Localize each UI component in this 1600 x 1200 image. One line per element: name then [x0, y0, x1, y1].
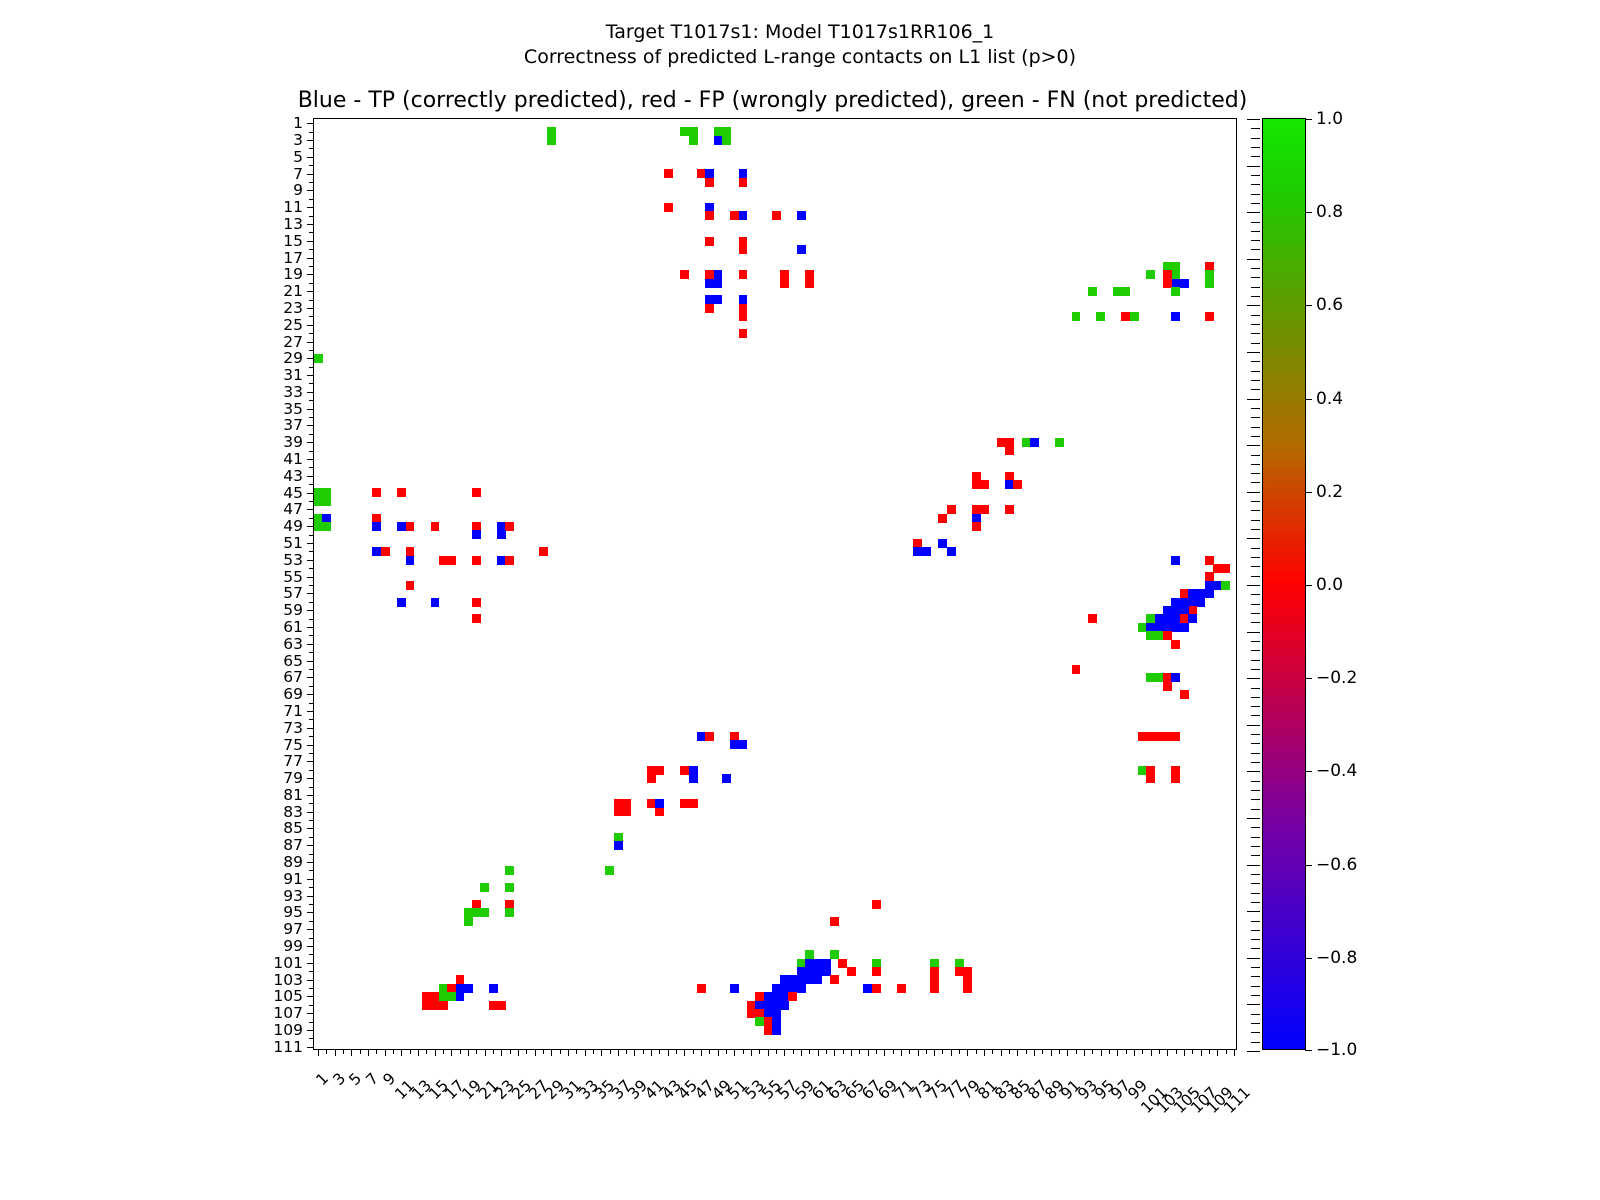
x-axis-tick — [984, 1049, 985, 1056]
colorbar-minor-tick — [1251, 762, 1260, 763]
colorbar-minor-tick — [1251, 557, 1260, 558]
y-axis-tick-label: 101 — [273, 954, 303, 972]
colorbar-minor-tick — [1247, 1051, 1260, 1052]
y-axis-minor-tick — [309, 887, 314, 888]
colorbar-minor-tick — [1251, 529, 1260, 530]
y-axis-minor-tick — [309, 451, 314, 452]
y-axis-minor-tick — [309, 350, 314, 351]
x-axis-minor-tick — [560, 1049, 561, 1054]
y-axis-tick — [307, 1013, 314, 1014]
contact-cell — [1005, 446, 1014, 455]
x-axis-minor-tick — [859, 1049, 860, 1054]
y-axis-tick-label: 41 — [283, 450, 303, 468]
y-axis-tick-label: 49 — [283, 517, 303, 535]
y-axis-minor-tick — [309, 971, 314, 972]
x-axis-minor-tick — [826, 1049, 827, 1054]
colorbar-tick — [1305, 1050, 1312, 1051]
y-axis-minor-tick — [309, 551, 314, 552]
colorbar-minor-tick — [1251, 594, 1260, 595]
x-axis-tick — [851, 1049, 852, 1056]
colorbar-minor-tick — [1251, 976, 1260, 977]
colorbar-minor-tick — [1251, 613, 1260, 614]
colorbar-minor-tick — [1251, 194, 1260, 195]
colorbar-minor-tick — [1251, 799, 1260, 800]
contact-cell — [739, 312, 748, 321]
contact-cell — [447, 556, 456, 565]
x-axis-minor-tick — [926, 1049, 927, 1054]
y-axis-tick-label: 83 — [283, 803, 303, 821]
y-axis-tick-label: 47 — [283, 500, 303, 518]
x-axis-minor-tick — [510, 1049, 511, 1054]
x-axis-minor-tick — [1026, 1049, 1027, 1054]
colorbar-tick-label: 0.4 — [1316, 389, 1343, 409]
colorbar-minor-tick — [1251, 604, 1260, 605]
x-axis-minor-tick — [343, 1049, 344, 1054]
x-axis-tick — [451, 1049, 452, 1056]
x-axis-minor-tick — [1092, 1049, 1093, 1054]
x-axis-tick — [1201, 1049, 1202, 1056]
y-axis-tick-label: 81 — [283, 786, 303, 804]
y-axis-tick-label: 97 — [283, 920, 303, 938]
y-axis-minor-tick — [309, 988, 314, 989]
x-axis-tick — [335, 1049, 336, 1056]
contact-cell — [1171, 673, 1180, 682]
x-axis-tick — [501, 1049, 502, 1056]
contact-cell — [1088, 614, 1097, 623]
y-axis-minor-tick — [309, 602, 314, 603]
x-axis-minor-tick — [809, 1049, 810, 1054]
colorbar-minor-tick — [1251, 948, 1260, 949]
y-axis-tick-label: 51 — [283, 534, 303, 552]
y-axis-tick — [307, 610, 314, 611]
x-axis-minor-tick — [610, 1049, 611, 1054]
contact-cell — [431, 522, 440, 531]
y-axis-tick — [307, 694, 314, 695]
x-axis-tick — [684, 1049, 685, 1056]
contact-map-plot: 1357911131517192123252729313335373941434… — [313, 118, 1237, 1050]
contact-cell — [788, 992, 797, 1001]
colorbar-minor-tick — [1251, 417, 1260, 418]
contact-cell — [406, 581, 415, 590]
y-axis-tick-label: 21 — [283, 282, 303, 300]
colorbar-minor-tick — [1251, 464, 1260, 465]
contact-cell — [497, 530, 506, 539]
x-axis-tick — [468, 1049, 469, 1056]
contact-cell — [705, 237, 714, 246]
contact-cell — [972, 522, 981, 531]
colorbar-minor-tick — [1251, 361, 1260, 362]
y-axis-tick-label: 31 — [283, 366, 303, 384]
contact-cell — [1171, 556, 1180, 565]
colorbar-minor-tick — [1251, 501, 1260, 502]
x-axis-minor-tick — [576, 1049, 577, 1054]
y-axis-tick — [307, 258, 314, 259]
colorbar-tick — [1305, 212, 1312, 213]
x-axis-minor-tick — [1076, 1049, 1077, 1054]
colorbar-minor-tick — [1251, 147, 1260, 148]
y-axis-tick-label: 33 — [283, 383, 303, 401]
colorbar-minor-tick — [1251, 203, 1260, 204]
contact-cell — [1221, 581, 1230, 590]
contact-cell — [1171, 732, 1180, 741]
x-axis-minor-tick — [676, 1049, 677, 1054]
x-axis-tick — [385, 1049, 386, 1056]
y-axis-tick — [307, 291, 314, 292]
colorbar-minor-tick — [1251, 427, 1260, 428]
x-axis-minor-tick — [476, 1049, 477, 1054]
y-axis-minor-tick — [309, 165, 314, 166]
contact-cell — [664, 169, 673, 178]
y-axis-tick — [307, 140, 314, 141]
x-axis-minor-tick — [743, 1049, 744, 1054]
x-axis-tick — [834, 1049, 835, 1056]
colorbar-minor-tick — [1251, 706, 1260, 707]
y-axis-minor-tick — [309, 182, 314, 183]
x-axis-minor-tick — [643, 1049, 644, 1054]
colorbar-minor-tick — [1247, 259, 1260, 260]
contact-cell — [1146, 270, 1155, 279]
y-axis-tick — [307, 711, 314, 712]
contact-cell — [1205, 312, 1214, 321]
y-axis-tick — [307, 274, 314, 275]
y-axis-tick — [307, 157, 314, 158]
x-axis-tick — [818, 1049, 819, 1056]
contact-cell — [372, 522, 381, 531]
x-axis-minor-tick — [1192, 1049, 1193, 1054]
x-axis-tick — [1184, 1049, 1185, 1056]
contact-cell — [439, 1001, 448, 1010]
colorbar-minor-tick — [1247, 678, 1260, 679]
y-axis-tick — [307, 526, 314, 527]
y-axis-tick-label: 87 — [283, 836, 303, 854]
colorbar-minor-tick — [1251, 138, 1260, 139]
y-axis-minor-tick — [309, 518, 314, 519]
title-line-1: Target T1017s1: Model T1017s1RR106_1 — [0, 20, 1600, 45]
contact-cell — [689, 774, 698, 783]
colorbar-tick-label: −0.4 — [1316, 761, 1357, 781]
figure-root: Target T1017s1: Model T1017s1RR106_1 Cor… — [0, 0, 1600, 1200]
y-axis-minor-tick — [309, 300, 314, 301]
y-axis-minor-tick — [309, 736, 314, 737]
contact-cell — [547, 136, 556, 145]
x-axis-minor-tick — [410, 1049, 411, 1054]
contact-cell — [1072, 312, 1081, 321]
x-axis-minor-tick — [376, 1049, 377, 1054]
colorbar-minor-tick — [1251, 128, 1260, 129]
y-axis-tick-label: 111 — [273, 1038, 303, 1056]
x-axis-tick — [1067, 1049, 1068, 1056]
contact-cell — [705, 732, 714, 741]
y-axis-tick-label: 45 — [283, 484, 303, 502]
colorbar-tick — [1305, 771, 1312, 772]
x-axis-minor-tick — [1126, 1049, 1127, 1054]
contact-cell — [697, 984, 706, 993]
colorbar-tick — [1305, 865, 1312, 866]
x-axis-tick — [601, 1049, 602, 1056]
y-axis-minor-tick — [309, 652, 314, 653]
colorbar-minor-tick — [1247, 352, 1260, 353]
y-axis-tick — [307, 929, 314, 930]
contact-cell — [947, 547, 956, 556]
y-axis-tick-label: 57 — [283, 584, 303, 602]
y-axis-minor-tick — [309, 283, 314, 284]
contact-cell — [372, 488, 381, 497]
contact-cell — [505, 908, 514, 917]
colorbar-minor-tick — [1251, 893, 1260, 894]
contact-cell — [655, 766, 664, 775]
contact-cell — [456, 992, 465, 1001]
y-axis-minor-tick — [309, 921, 314, 922]
y-axis-tick — [307, 241, 314, 242]
x-axis-tick — [884, 1049, 885, 1056]
colorbar-minor-tick — [1251, 231, 1260, 232]
y-axis-minor-tick — [309, 837, 314, 838]
x-axis-minor-tick — [976, 1049, 977, 1054]
contact-cell — [322, 497, 331, 506]
y-axis-tick — [307, 493, 314, 494]
y-axis-tick-label: 1 — [293, 114, 303, 132]
contact-cell — [938, 514, 947, 523]
x-axis-minor-tick — [793, 1049, 794, 1054]
x-axis-minor-tick — [426, 1049, 427, 1054]
contact-cell — [464, 984, 473, 993]
y-axis-tick — [307, 392, 314, 393]
contact-cell — [472, 556, 481, 565]
x-axis-tick — [1034, 1049, 1035, 1056]
colorbar-minor-tick — [1251, 371, 1260, 372]
y-axis-tick — [307, 409, 314, 410]
contact-cell — [505, 883, 514, 892]
y-axis-tick — [307, 476, 314, 477]
x-axis-minor-tick — [1226, 1049, 1227, 1054]
y-axis-minor-tick — [309, 703, 314, 704]
x-axis-tick — [1001, 1049, 1002, 1056]
contact-cell — [772, 211, 781, 220]
y-axis-tick-label: 59 — [283, 601, 303, 619]
contact-cell — [464, 917, 473, 926]
y-axis-tick — [307, 577, 314, 578]
y-axis-tick — [307, 795, 314, 796]
contact-cells-layer — [314, 119, 1236, 1049]
y-axis-tick-label: 99 — [283, 937, 303, 955]
y-axis-minor-tick — [309, 669, 314, 670]
contact-cell — [739, 270, 748, 279]
colorbar-minor-tick — [1251, 520, 1260, 521]
y-axis-minor-tick — [309, 249, 314, 250]
x-axis-minor-tick — [709, 1049, 710, 1054]
colorbar: 1.00.80.60.40.20.0−0.2−0.4−0.6−0.8−1.0 — [1262, 118, 1306, 1050]
y-axis-minor-tick — [309, 904, 314, 905]
colorbar-minor-tick — [1251, 240, 1260, 241]
colorbar-minor-tick — [1251, 436, 1260, 437]
y-axis-minor-tick — [309, 434, 314, 435]
contact-cell — [830, 975, 839, 984]
y-axis-tick-label: 77 — [283, 752, 303, 770]
x-axis-tick — [401, 1049, 402, 1056]
contact-cell — [472, 614, 481, 623]
colorbar-minor-tick — [1247, 492, 1260, 493]
colorbar-minor-tick — [1251, 455, 1260, 456]
x-axis-minor-tick — [726, 1049, 727, 1054]
y-axis-tick — [307, 862, 314, 863]
y-axis-tick — [307, 745, 314, 746]
y-axis-tick — [307, 996, 314, 997]
y-axis-minor-tick — [309, 199, 314, 200]
contact-cell — [705, 178, 714, 187]
y-axis-tick — [307, 459, 314, 460]
colorbar-minor-tick — [1251, 473, 1260, 474]
colorbar-minor-tick — [1251, 296, 1260, 297]
y-axis-tick-label: 7 — [293, 165, 303, 183]
contact-cell — [1205, 279, 1214, 288]
y-axis-minor-tick — [309, 803, 314, 804]
colorbar-minor-tick — [1247, 818, 1260, 819]
colorbar-minor-tick — [1251, 930, 1260, 931]
y-axis-tick-label: 23 — [283, 299, 303, 317]
y-axis-minor-tick — [309, 753, 314, 754]
y-axis-tick — [307, 963, 314, 964]
x-axis-tick — [318, 1049, 319, 1056]
colorbar-minor-tick — [1251, 1032, 1260, 1033]
x-axis-tick — [518, 1049, 519, 1056]
colorbar-minor-tick — [1251, 408, 1260, 409]
y-axis-tick-label: 79 — [283, 769, 303, 787]
x-axis-minor-tick — [493, 1049, 494, 1054]
figure-title: Target T1017s1: Model T1017s1RR106_1 Cor… — [0, 20, 1600, 70]
contact-cell — [847, 967, 856, 976]
x-axis-tick — [768, 1049, 769, 1056]
x-axis-minor-tick — [1176, 1049, 1177, 1054]
contact-cell — [1171, 287, 1180, 296]
colorbar-minor-tick — [1251, 967, 1260, 968]
contact-cell — [614, 841, 623, 850]
colorbar-minor-tick — [1251, 883, 1260, 884]
x-axis-minor-tick — [1159, 1049, 1160, 1054]
contact-cell — [480, 883, 489, 892]
x-axis-tick — [801, 1049, 802, 1056]
contact-cell — [489, 984, 498, 993]
x-axis-minor-tick — [893, 1049, 894, 1054]
x-axis-minor-tick — [1009, 1049, 1010, 1054]
colorbar-minor-tick — [1251, 734, 1260, 735]
y-axis-tick-label: 43 — [283, 467, 303, 485]
y-axis-minor-tick — [309, 770, 314, 771]
x-axis-tick — [634, 1049, 635, 1056]
contact-cell — [705, 211, 714, 220]
y-axis-minor-tick — [309, 148, 314, 149]
contact-cell — [722, 136, 731, 145]
x-axis-minor-tick — [1142, 1049, 1143, 1054]
contact-cell — [930, 984, 939, 993]
y-axis-minor-tick — [309, 854, 314, 855]
colorbar-minor-tick — [1251, 389, 1260, 390]
colorbar-tick — [1305, 678, 1312, 679]
y-axis-minor-tick — [309, 619, 314, 620]
x-axis-tick — [351, 1049, 352, 1056]
x-axis-tick — [485, 1049, 486, 1056]
y-axis-minor-tick — [309, 132, 314, 133]
colorbar-minor-tick — [1251, 753, 1260, 754]
y-axis-tick — [307, 442, 314, 443]
contact-cell — [1171, 640, 1180, 649]
y-axis-tick-label: 71 — [283, 702, 303, 720]
y-axis-tick-label: 73 — [283, 719, 303, 737]
y-axis-tick — [307, 174, 314, 175]
y-axis-tick — [307, 207, 314, 208]
contact-cell — [647, 774, 656, 783]
y-axis-tick — [307, 308, 314, 309]
contact-cell — [1005, 505, 1014, 514]
colorbar-tick — [1305, 305, 1312, 306]
colorbar-minor-tick — [1251, 1023, 1260, 1024]
x-axis-tick — [551, 1049, 552, 1056]
colorbar-tick-label: 0.0 — [1316, 575, 1343, 595]
x-axis-minor-tick — [393, 1049, 394, 1054]
y-axis-tick-label: 37 — [283, 416, 303, 434]
contact-cell — [1171, 312, 1180, 321]
y-axis-minor-tick — [309, 333, 314, 334]
contact-cell — [780, 279, 789, 288]
y-axis-minor-tick — [309, 686, 314, 687]
x-axis-tick — [1134, 1049, 1135, 1056]
colorbar-minor-tick — [1251, 482, 1260, 483]
contact-cell — [472, 530, 481, 539]
y-axis-tick — [307, 912, 314, 913]
contact-cell — [739, 245, 748, 254]
contact-cell — [505, 556, 514, 565]
x-axis-tick — [701, 1049, 702, 1056]
x-axis-tick — [651, 1049, 652, 1056]
y-axis-tick — [307, 778, 314, 779]
y-axis-tick-label: 9 — [293, 181, 303, 199]
colorbar-minor-tick — [1247, 538, 1260, 539]
x-axis-tick — [1101, 1049, 1102, 1056]
x-axis-minor-tick — [659, 1049, 660, 1054]
x-axis-tick — [784, 1049, 785, 1056]
contact-cell — [805, 279, 814, 288]
y-axis-tick — [307, 896, 314, 897]
y-axis-tick-label: 15 — [283, 232, 303, 250]
colorbar-minor-tick — [1247, 1004, 1260, 1005]
y-axis-tick-label: 75 — [283, 736, 303, 754]
colorbar-tick-label: 0.8 — [1316, 202, 1343, 222]
contact-cell — [1130, 312, 1139, 321]
y-axis-tick-label: 3 — [293, 131, 303, 149]
x-axis-tick — [918, 1049, 919, 1056]
colorbar-minor-tick — [1251, 324, 1260, 325]
contact-cell — [1171, 774, 1180, 783]
y-axis-tick — [307, 644, 314, 645]
contact-cell — [797, 211, 806, 220]
x-axis-tick — [868, 1049, 869, 1056]
contact-cell — [1088, 287, 1097, 296]
colorbar-minor-tick — [1251, 156, 1260, 157]
colorbar-tick-label: 1.0 — [1316, 109, 1343, 129]
colorbar-minor-tick — [1251, 669, 1260, 670]
y-axis-tick-label: 95 — [283, 903, 303, 921]
y-axis-minor-tick — [309, 383, 314, 384]
contact-cell — [381, 547, 390, 556]
x-axis-tick — [751, 1049, 752, 1056]
colorbar-minor-tick — [1247, 166, 1260, 167]
contact-cell — [872, 967, 881, 976]
x-axis-tick — [618, 1049, 619, 1056]
colorbar-tick — [1305, 492, 1312, 493]
x-axis-minor-tick — [593, 1049, 594, 1054]
contact-cell — [980, 505, 989, 514]
colorbar-minor-tick — [1251, 995, 1260, 996]
x-axis-minor-tick — [843, 1049, 844, 1054]
